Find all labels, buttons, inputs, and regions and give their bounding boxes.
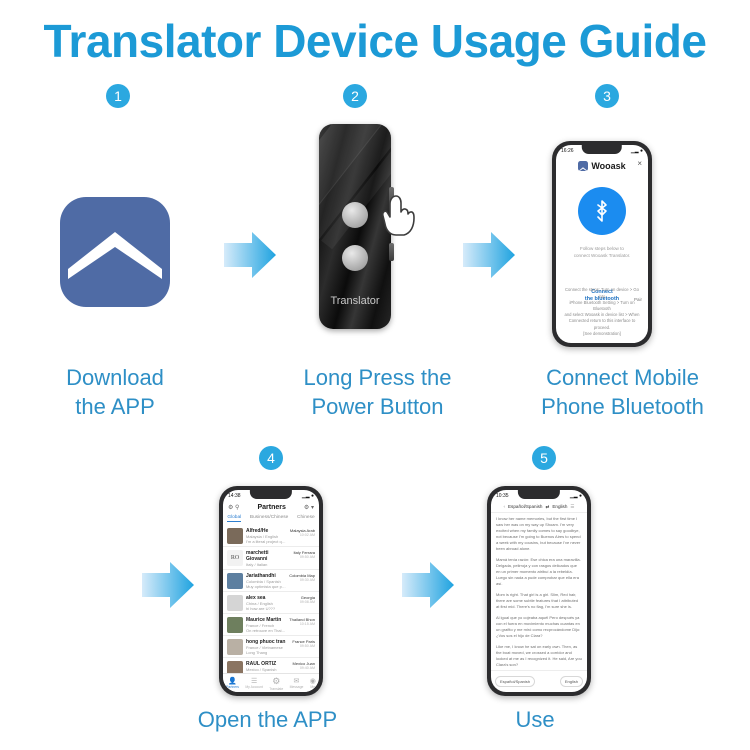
partner-time: 09:08 AM [300, 600, 315, 604]
partner-location: Italy Ferrara [293, 550, 315, 555]
partner-message: hi how are U??? [246, 606, 297, 611]
avatar [227, 595, 243, 611]
me-icon: ◉ [310, 677, 316, 685]
list-item[interactable]: RO marchetti Giovanni Italy / Italian It… [223, 547, 319, 570]
status-time: 16:26 [561, 148, 574, 154]
language-selector-bar[interactable]: ‹ Español/Spanish ⇄ English ☰ [491, 501, 587, 513]
tab-label: My Account [245, 685, 263, 689]
step-caption-5: Use [475, 705, 595, 734]
bluetooth-button[interactable] [578, 187, 626, 235]
list-item[interactable]: Maurice Martin France / French On retrou… [223, 614, 319, 636]
partner-time: 09:50 AM [292, 644, 315, 648]
transcript-paragraph: Mom is right. That girl is a girl. Slim,… [496, 592, 582, 610]
avatar [227, 639, 243, 655]
brand-name: Wooask [591, 161, 625, 171]
tab-business-chinese[interactable]: Business/Chinese [250, 515, 288, 522]
menu-icon[interactable]: ☰ [570, 504, 574, 510]
tab-partners[interactable]: 👤 Partners [226, 677, 239, 689]
source-language[interactable]: Español/Spanish [508, 504, 542, 509]
translation-transcript[interactable]: I know her name memories, but the first … [491, 513, 587, 670]
avatar [227, 617, 243, 633]
partner-location: France Paris [292, 639, 315, 644]
nav-left-icons[interactable]: ⚙ ⚲ [228, 504, 239, 511]
app-brand-header: Wooask [556, 161, 648, 171]
page-title: Translator Device Usage Guide [0, 14, 750, 68]
partners-tabs: Global Business/Chinese Chinese [223, 515, 319, 522]
partner-location: Colombia Map [289, 573, 315, 578]
step-badge-4: 4 [259, 446, 283, 470]
status-bar: 16:26 ▁▂ ● [556, 146, 648, 155]
tab-global[interactable]: Global [227, 515, 241, 522]
step-badge-5: 5 [532, 446, 556, 470]
device-button-top[interactable] [342, 202, 368, 228]
step-caption-2: Long Press the Power Button [265, 363, 490, 421]
list-item[interactable]: hong phuoc tran France / Vietnamese Long… [223, 636, 319, 658]
tab-translate[interactable]: ⚙ Translate [269, 676, 283, 691]
phone-bluetooth-connect[interactable]: 16:26 ▁▂ ● Wooask × Follow steps below t… [552, 141, 652, 347]
bluetooth-hint-text: Follow steps below to connect Wooask Tra… [556, 245, 648, 259]
phone-translation-view[interactable]: 10:35 ▁▂ ● ‹ Español/Spanish ⇄ English ☰… [487, 486, 591, 696]
usage-guide-page: Translator Device Usage Guide 1 2 3 Tran… [0, 0, 750, 750]
footer-target-language[interactable]: English [560, 676, 583, 687]
bottom-tab-bar[interactable]: 👤 Partners ☰ My Account ⚙ Translate ✉ Me… [223, 673, 319, 692]
tab-label: Message [290, 685, 304, 689]
partner-location: Georgia [300, 595, 315, 600]
arrow-step1-to-step2-icon [222, 230, 278, 280]
phone-screen: 10:35 ▁▂ ● ‹ Español/Spanish ⇄ English ☰… [491, 490, 587, 692]
step-badge-3: 3 [595, 84, 619, 108]
tab-message[interactable]: ✉ Message [290, 677, 304, 689]
partners-nav-bar: ⚙ ⚲ Partners ⚙ ▾ [223, 501, 319, 514]
partner-time: 09:50 AM [293, 555, 315, 559]
partner-time: 09:30 AM [289, 578, 315, 582]
device-button-bottom[interactable] [342, 245, 368, 271]
partners-icon: 👤 [226, 677, 239, 685]
app-icon[interactable] [60, 197, 170, 307]
transcript-paragraph: I know her name memories, but the first … [496, 516, 582, 552]
partner-name: marchetti Giovanni [246, 550, 290, 562]
phone-screen: 14:38 ▁▂ ● ⚙ ⚲ Partners ⚙ ▾ Global Busin… [223, 490, 319, 692]
arrow-to-step4-icon [140, 560, 196, 610]
pointing-hand-icon [381, 190, 419, 238]
swap-icon[interactable]: ⇄ [545, 504, 549, 510]
tab-label: Partners [226, 685, 239, 689]
avatar [227, 661, 243, 675]
device-label: Translator [319, 295, 391, 307]
partner-time: 09:40 AM [293, 666, 315, 670]
list-item[interactable]: RAUL ORTIZ Mexico / Spanish RAUL ORTIZ -… [223, 658, 319, 674]
partner-sub: France / Vietnamese [246, 645, 289, 650]
step-caption-4: Open the APP [175, 705, 360, 734]
partner-time: 10:15 AM [289, 622, 315, 626]
partner-name: hong phuoc tran [246, 639, 289, 645]
partner-sub: Colombia / Spanish [246, 579, 286, 584]
message-icon: ✉ [290, 677, 304, 685]
translation-footer[interactable]: Español/Spanish English [491, 670, 587, 692]
status-time: 14:38 [228, 493, 241, 499]
partners-list[interactable]: Alfred/He Malaysia / English I'm a liter… [223, 525, 319, 674]
device-volume-button[interactable] [389, 243, 394, 261]
partner-message: Long Thang [246, 650, 289, 655]
tab-me[interactable]: ◉ Me [310, 677, 316, 689]
tab-my-account[interactable]: ☰ My Account [245, 677, 263, 689]
partner-message: I'm a literal project quite hot from Mal… [246, 539, 287, 544]
arrow-step2-to-step3-icon [461, 230, 517, 280]
partner-time: 10:02 AM [290, 533, 315, 537]
target-language[interactable]: English [552, 504, 567, 509]
partner-location: Thailand Bhon [289, 617, 315, 622]
wooask-app-icon [578, 161, 588, 171]
partner-sub: Italy / Italian [246, 562, 290, 567]
step-caption-3: Connect Mobile Phone Bluetooth [505, 363, 740, 421]
avatar [227, 528, 243, 544]
list-item[interactable]: Alfred/He Malaysia / English I'm a liter… [223, 525, 319, 547]
step-caption-1: Download the APP [25, 363, 205, 421]
status-time: 10:35 [496, 493, 509, 499]
account-icon: ☰ [245, 677, 263, 685]
partner-location: Mexico Juan [293, 661, 315, 666]
list-item[interactable]: Jariathandhi Colombia / Spanish Muy opti… [223, 570, 319, 592]
footer-source-language[interactable]: Español/Spanish [495, 676, 535, 687]
bluetooth-instructions: Connect the steps: Turn on device > Go i… [562, 287, 642, 337]
mountain-glyph-icon [60, 197, 170, 307]
transcript-paragraph: Mamá tenía razón: Ese chica era una mara… [496, 557, 582, 587]
status-bar: 14:38 ▁▂ ● [223, 491, 319, 500]
phone-partners-list[interactable]: 14:38 ▁▂ ● ⚙ ⚲ Partners ⚙ ▾ Global Busin… [219, 486, 323, 696]
tab-label: Me [310, 685, 316, 689]
partner-message: Muy optimista que pronto acabo esta pan.… [246, 584, 286, 589]
page-title: Partners [257, 504, 285, 511]
tab-chinese[interactable]: Chinese [297, 515, 315, 522]
back-icon[interactable]: ‹ [503, 504, 505, 509]
avatar: RO [227, 550, 243, 566]
step-badge-1: 1 [106, 84, 130, 108]
avatar [227, 573, 243, 589]
partner-name: Maurice Martin [246, 617, 286, 623]
close-icon[interactable]: × [637, 160, 642, 168]
partner-location: Malaysia Arab [290, 528, 315, 533]
partner-message: On retrouve en Thailande [246, 628, 286, 633]
nav-right-icons[interactable]: ⚙ ▾ [304, 504, 314, 511]
list-item[interactable]: alex sea China / English hi how are U???… [223, 592, 319, 614]
status-indicators: ▁▂ ● [302, 493, 314, 499]
transcript-paragraph: Like me, I know he sat on early own. The… [496, 644, 582, 668]
translate-icon: ⚙ [269, 676, 283, 687]
status-bar: 10:35 ▁▂ ● [491, 491, 587, 500]
phone-screen: 16:26 ▁▂ ● Wooask × Follow steps below t… [556, 145, 648, 343]
tab-label: Translate [269, 687, 283, 691]
transcript-paragraph: Al igual que yo cojeaba aquél Pero despu… [496, 615, 582, 639]
bluetooth-icon [589, 198, 615, 224]
arrow-step4-to-step5-icon [400, 560, 456, 610]
step-badge-2: 2 [343, 84, 367, 108]
status-indicators: ▁▂ ● [570, 493, 582, 499]
status-indicators: ▁▂ ● [631, 148, 643, 154]
